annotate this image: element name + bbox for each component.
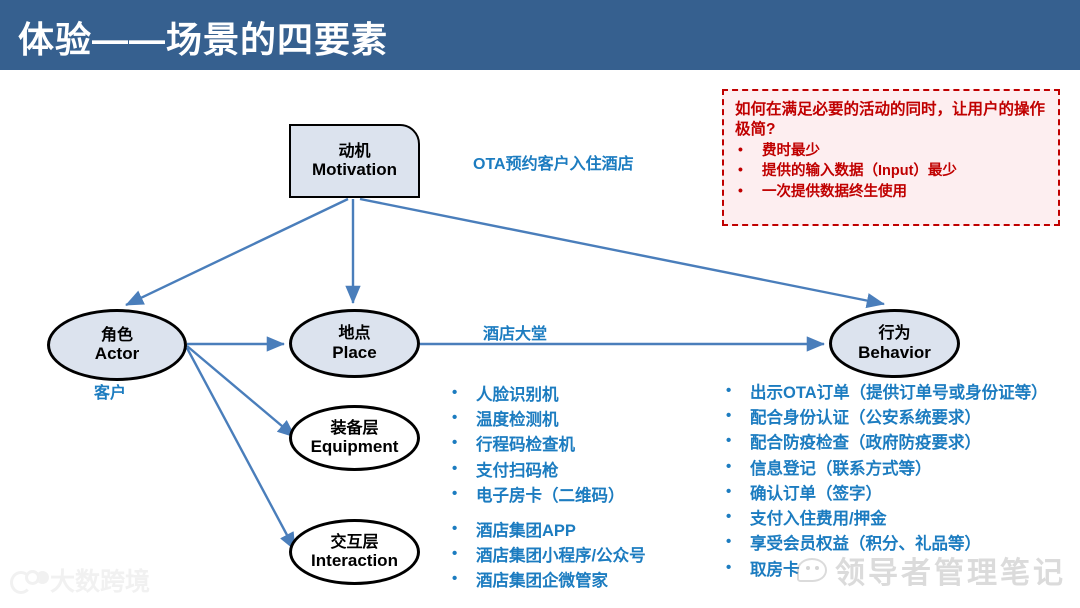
node-interaction-cn: 交互层 [330, 534, 378, 552]
callout-list: 费时最少 提供的输入数据（Input）最少 一次提供数据终生使用 [735, 141, 1047, 203]
brand-logo-icon [10, 569, 44, 591]
list-item: 支付入住费用/押金 [722, 507, 1062, 532]
slide-canvas: 体验——场景的四要素 动机 Motivation 角色 Actor 地点 [0, 0, 1080, 608]
list-item: 酒店集团小程序/公众号 [448, 544, 676, 569]
list-item: 配合防疫检查（政府防疫要求） [722, 431, 1062, 456]
list-item: 酒店集团企微管家 [448, 569, 676, 594]
node-actor[interactable]: 角色 Actor [47, 309, 187, 381]
node-place-en: Place [332, 343, 376, 362]
node-behavior-en: Behavior [858, 343, 931, 362]
list-item: 享受会员权益（积分、礼品等） [722, 532, 1062, 557]
node-motivation[interactable]: 动机 Motivation [289, 124, 420, 198]
edge-actor-equipment [187, 346, 295, 437]
node-interaction[interactable]: 交互层 Interaction [289, 519, 420, 585]
node-equipment[interactable]: 装备层 Equipment [289, 405, 420, 471]
list-item: 支付扫码枪 [448, 459, 688, 484]
bullet-list-interaction: 酒店集团APP 酒店集团小程序/公众号 酒店集团企微管家 [448, 519, 676, 595]
list-item: 取房卡 [722, 558, 1062, 583]
callout-box: 如何在满足必要的活动的同时，让用户的操作极简? 费时最少 提供的输入数据（Inp… [722, 89, 1060, 226]
node-equipment-cn: 装备层 [330, 420, 378, 438]
label-actor-sub: 客户 [94, 379, 126, 403]
edge-label-ota: OTA预约客户入住酒店 [473, 150, 634, 174]
list-item: 人脸识别机 [448, 383, 688, 408]
node-place-cn: 地点 [338, 325, 370, 343]
list-item: 配合身份认证（公安系统要求） [722, 406, 1062, 431]
list-item: 确认订单（签字） [722, 482, 1062, 507]
watermark-left-text: 大数跨境 [50, 562, 150, 598]
list-item: 酒店集团APP [448, 519, 676, 544]
callout-item: 一次提供数据终生使用 [735, 182, 1047, 203]
page-title: 体验——场景的四要素 [18, 11, 388, 63]
callout-question: 如何在满足必要的活动的同时，让用户的操作极简? [735, 100, 1047, 140]
watermark-left: 大数跨境 [10, 562, 150, 598]
callout-item: 提供的输入数据（Input）最少 [735, 161, 1047, 182]
node-actor-en: Actor [95, 344, 139, 363]
node-motivation-cn: 动机 [338, 143, 370, 161]
edge-actor-interaction [187, 348, 295, 550]
list-item: 信息登记（联系方式等） [722, 457, 1062, 482]
node-behavior-cn: 行为 [878, 325, 910, 343]
bullet-list-equipment: 人脸识别机 温度检测机 行程码检查机 支付扫码枪 电子房卡（二维码） [448, 383, 688, 509]
node-motivation-en: Motivation [312, 160, 397, 179]
node-equipment-en: Equipment [311, 437, 399, 456]
edge-label-lobby: 酒店大堂 [483, 320, 547, 344]
callout-item: 费时最少 [735, 141, 1047, 162]
node-place[interactable]: 地点 Place [289, 309, 420, 378]
node-behavior[interactable]: 行为 Behavior [829, 309, 960, 378]
list-item: 行程码检查机 [448, 433, 688, 458]
node-interaction-en: Interaction [311, 551, 398, 570]
edge-motivation-actor [126, 199, 348, 305]
list-item: 电子房卡（二维码） [448, 484, 688, 509]
node-actor-cn: 角色 [101, 327, 133, 345]
list-item: 出示OTA订单（提供订单号或身份证等） [722, 381, 1062, 406]
list-item: 温度检测机 [448, 408, 688, 433]
bullet-list-behavior: 出示OTA订单（提供订单号或身份证等） 配合身份认证（公安系统要求） 配合防疫检… [722, 381, 1062, 583]
